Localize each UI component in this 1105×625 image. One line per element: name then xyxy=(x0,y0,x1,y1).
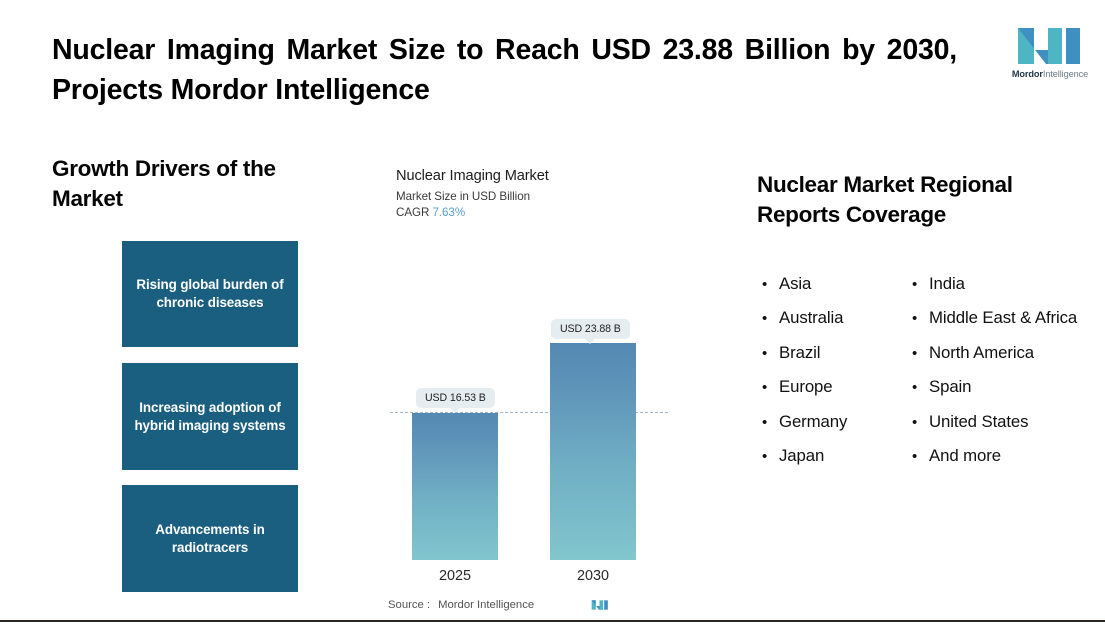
region-list-item: •Asia xyxy=(762,274,912,308)
brand-name-bold: Mordor xyxy=(1012,69,1043,79)
cagr-label: CAGR xyxy=(396,206,429,219)
chart-plot-area: USD 16.53 B USD 23.88 B 2025 2030 Source… xyxy=(390,240,680,570)
bullet-icon: • xyxy=(912,311,929,326)
bar-value-label-2025: USD 16.53 B xyxy=(416,388,495,408)
region-list-item: •Spain xyxy=(912,377,1102,411)
x-axis-tick-2030: 2030 xyxy=(550,568,636,584)
brand-name-light: Intelligence xyxy=(1043,69,1088,79)
region-label: Brazil xyxy=(779,343,820,363)
bullet-icon: • xyxy=(912,346,929,361)
region-list-item: •India xyxy=(912,274,1102,308)
growth-drivers-heading: Growth Drivers of the Market xyxy=(52,154,352,214)
page-title: Nuclear Imaging Market Size to Reach USD… xyxy=(52,30,957,110)
region-list-item: •North America xyxy=(912,343,1102,377)
region-label: Australia xyxy=(779,308,843,328)
brand-logo: MordorIntelligence xyxy=(1004,26,1096,79)
mordor-logo-icon xyxy=(1004,26,1096,66)
bar-2025 xyxy=(412,413,498,560)
bottom-divider xyxy=(0,620,1105,622)
chart-title: Nuclear Imaging Market xyxy=(396,168,686,184)
regional-coverage-list: •Asia •Australia •Brazil •Europe •German… xyxy=(762,274,1102,480)
chart-cagr: CAGR 7.63% xyxy=(396,206,686,219)
region-label: Europe xyxy=(779,377,833,397)
region-label: Spain xyxy=(929,377,971,397)
market-size-chart: Nuclear Imaging Market Market Size in US… xyxy=(396,168,686,558)
regional-coverage-heading: Nuclear Market Regional Reports Coverage xyxy=(757,170,1087,230)
bullet-icon: • xyxy=(762,277,779,292)
growth-driver-card: Advancements in radiotracers xyxy=(122,485,298,592)
bullet-icon: • xyxy=(762,311,779,326)
region-label: And more xyxy=(929,446,1001,466)
bullet-icon: • xyxy=(912,380,929,395)
bar-2030 xyxy=(550,343,636,560)
infographic-page: Nuclear Imaging Market Size to Reach USD… xyxy=(0,0,1105,625)
bullet-icon: • xyxy=(912,277,929,292)
mordor-logo-small-icon xyxy=(588,598,612,612)
region-list-item: •Europe xyxy=(762,377,912,411)
source-value: Mordor Intelligence xyxy=(438,599,534,611)
growth-driver-card: Rising global burden of chronic diseases xyxy=(122,241,298,347)
x-axis-tick-2025: 2025 xyxy=(412,568,498,584)
bullet-icon: • xyxy=(762,346,779,361)
brand-wordmark: MordorIntelligence xyxy=(1004,69,1096,79)
region-list-item: •Middle East & Africa xyxy=(912,308,1102,342)
region-list-item: •Brazil xyxy=(762,343,912,377)
chart-source: Source : Mordor Intelligence xyxy=(388,598,638,612)
cagr-value: 7.63% xyxy=(432,206,465,219)
bullet-icon: • xyxy=(762,415,779,430)
region-label: Germany xyxy=(779,412,847,432)
region-column-right: •India •Middle East & Africa •North Amer… xyxy=(912,274,1102,480)
region-label: Japan xyxy=(779,446,824,466)
bullet-icon: • xyxy=(762,380,779,395)
bar-value-label-2030: USD 23.88 B xyxy=(551,319,630,339)
region-label: Middle East & Africa xyxy=(929,308,1077,328)
region-list-item: •United States xyxy=(912,412,1102,446)
region-label: United States xyxy=(929,412,1028,432)
chart-subtitle: Market Size in USD Billion xyxy=(396,190,686,203)
region-list-item: •Australia xyxy=(762,308,912,342)
region-label: Asia xyxy=(779,274,811,294)
bullet-icon: • xyxy=(912,449,929,464)
region-list-item: •Germany xyxy=(762,412,912,446)
source-label: Source : xyxy=(388,599,430,611)
region-column-left: •Asia •Australia •Brazil •Europe •German… xyxy=(762,274,912,480)
bullet-icon: • xyxy=(762,449,779,464)
region-list-item: •Japan xyxy=(762,446,912,480)
bullet-icon: • xyxy=(912,415,929,430)
region-label: India xyxy=(929,274,965,294)
region-list-item: •And more xyxy=(912,446,1102,480)
region-label: North America xyxy=(929,343,1034,363)
growth-driver-card: Increasing adoption of hybrid imaging sy… xyxy=(122,363,298,470)
